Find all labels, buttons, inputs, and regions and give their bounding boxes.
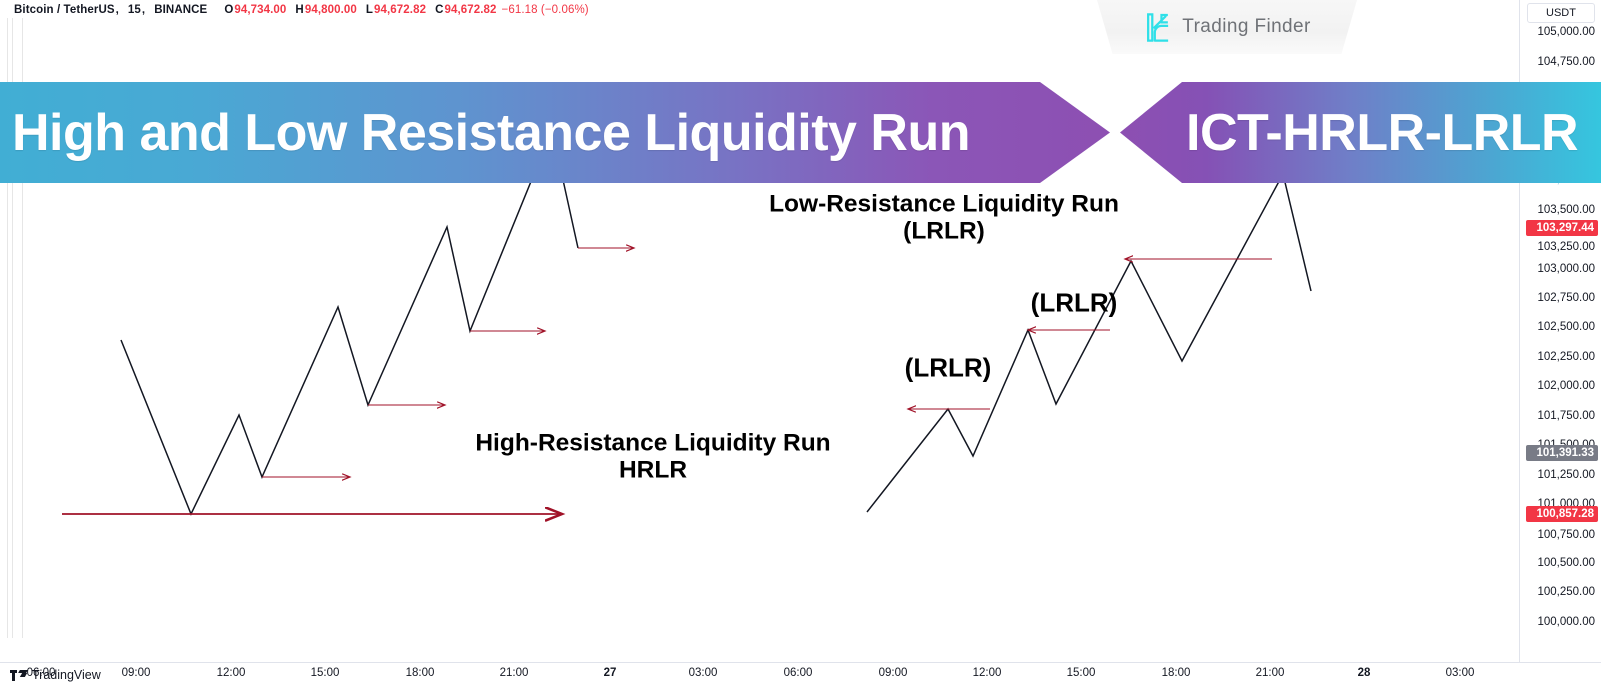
hrlr-label-line2: HRLR [475, 457, 830, 484]
legend-close-label: C [435, 4, 443, 16]
title-ribbon-left-text: High and Low Resistance Liquidity Run [12, 103, 970, 163]
legend-high-value: 94,800.00 [305, 4, 357, 16]
legend-interval[interactable]: 15 [128, 4, 141, 16]
price-label-last[interactable]: 103,297.44 [1526, 220, 1598, 236]
time-tick: 03:00 [689, 667, 718, 679]
title-ribbon-right-text: ICT-HRLR-LRLR [1186, 103, 1578, 163]
legend-change: −61.18 (−0.06%) [502, 4, 589, 16]
chart-canvas[interactable]: Bitcoin / TetherUS,15,BINANCEO94,734.00H… [0, 0, 1601, 700]
legend-low-label: L [366, 4, 373, 16]
price-tick: 101,750.00 [1525, 410, 1595, 422]
price-tick: 100,750.00 [1525, 529, 1595, 541]
legend-open-label: O [224, 4, 233, 16]
time-tick: 28 [1358, 667, 1371, 679]
price-label-red[interactable]: 100,857.28 [1526, 506, 1598, 522]
price-tick: 104,750.00 [1525, 56, 1595, 68]
price-tick: 100,500.00 [1525, 557, 1595, 569]
tradingview-brand[interactable]: TradingView [10, 668, 101, 682]
price-tick: 102,750.00 [1525, 292, 1595, 304]
time-tick: 15:00 [1067, 667, 1096, 679]
price-tick: 103,000.00 [1525, 263, 1595, 275]
legend-symbol[interactable]: Bitcoin / TetherUS [14, 4, 115, 16]
hrlr-label-line1: High-Resistance Liquidity Run [475, 430, 830, 457]
price-tick: 103,500.00 [1525, 204, 1595, 216]
legend-close-value: 94,672.82 [444, 4, 496, 16]
title-ribbon-right: ICT-HRLR-LRLR [1120, 82, 1601, 183]
lrlr-label-2-line1: (LRLR) [1031, 288, 1118, 317]
price-tick: 102,500.00 [1525, 321, 1595, 333]
time-tick: 12:00 [973, 667, 1002, 679]
price-tick: 100,250.00 [1525, 586, 1595, 598]
lrlr-label-main-line1: Low-Resistance Liquidity Run [769, 191, 1119, 218]
currency-unit-badge[interactable]: USDT [1527, 3, 1595, 23]
legend-low-value: 94,672.82 [374, 4, 426, 16]
tradingview-logo-icon [10, 670, 27, 681]
time-tick: 15:00 [311, 667, 340, 679]
lrlr-label-1-line1: (LRLR) [905, 353, 992, 382]
legend-open-value: 94,734.00 [234, 4, 286, 16]
price-tick: 103,250.00 [1525, 241, 1595, 253]
time-tick: 18:00 [406, 667, 435, 679]
price-tick: 102,250.00 [1525, 351, 1595, 363]
time-tick: 18:00 [1162, 667, 1191, 679]
price-tick: 101,250.00 [1525, 469, 1595, 481]
title-ribbon-left: High and Low Resistance Liquidity Run [0, 82, 1110, 183]
trading-finder-badge-label: Trading Finder [1182, 16, 1310, 38]
lrlr-label-2: (LRLR) [1031, 288, 1118, 317]
price-label-grey[interactable]: 101,391.33 [1526, 445, 1598, 461]
price-tick: 100,000.00 [1525, 616, 1595, 628]
lrlr-label-1: (LRLR) [905, 353, 992, 382]
tradingview-brand-label: TradingView [32, 668, 101, 682]
price-tick: 102,000.00 [1525, 380, 1595, 392]
time-tick: 21:00 [1256, 667, 1285, 679]
legend-high-label: H [295, 4, 303, 16]
trading-finder-badge[interactable]: Trading Finder [1097, 0, 1357, 54]
lrlr-label-main: Low-Resistance Liquidity Run(LRLR) [769, 191, 1119, 246]
time-tick: 27 [604, 667, 617, 679]
time-tick: 12:00 [217, 667, 246, 679]
time-tick: 09:00 [122, 667, 151, 679]
price-tick: 105,000.00 [1525, 26, 1595, 38]
time-tick: 09:00 [879, 667, 908, 679]
legend-exchange[interactable]: BINANCE [154, 4, 207, 16]
trading-finder-logo-icon [1143, 12, 1173, 43]
time-axis[interactable]: 06:0009:0012:0015:0018:0021:002703:0006:… [0, 662, 1601, 684]
hrlr-label: High-Resistance Liquidity RunHRLR [475, 430, 830, 485]
chart-legend[interactable]: Bitcoin / TetherUS,15,BINANCEO94,734.00H… [14, 4, 590, 16]
time-tick: 06:00 [784, 667, 813, 679]
time-tick: 21:00 [500, 667, 529, 679]
time-tick: 03:00 [1446, 667, 1475, 679]
lrlr-label-main-line2: (LRLR) [769, 218, 1119, 245]
axis-divider [0, 662, 1601, 663]
